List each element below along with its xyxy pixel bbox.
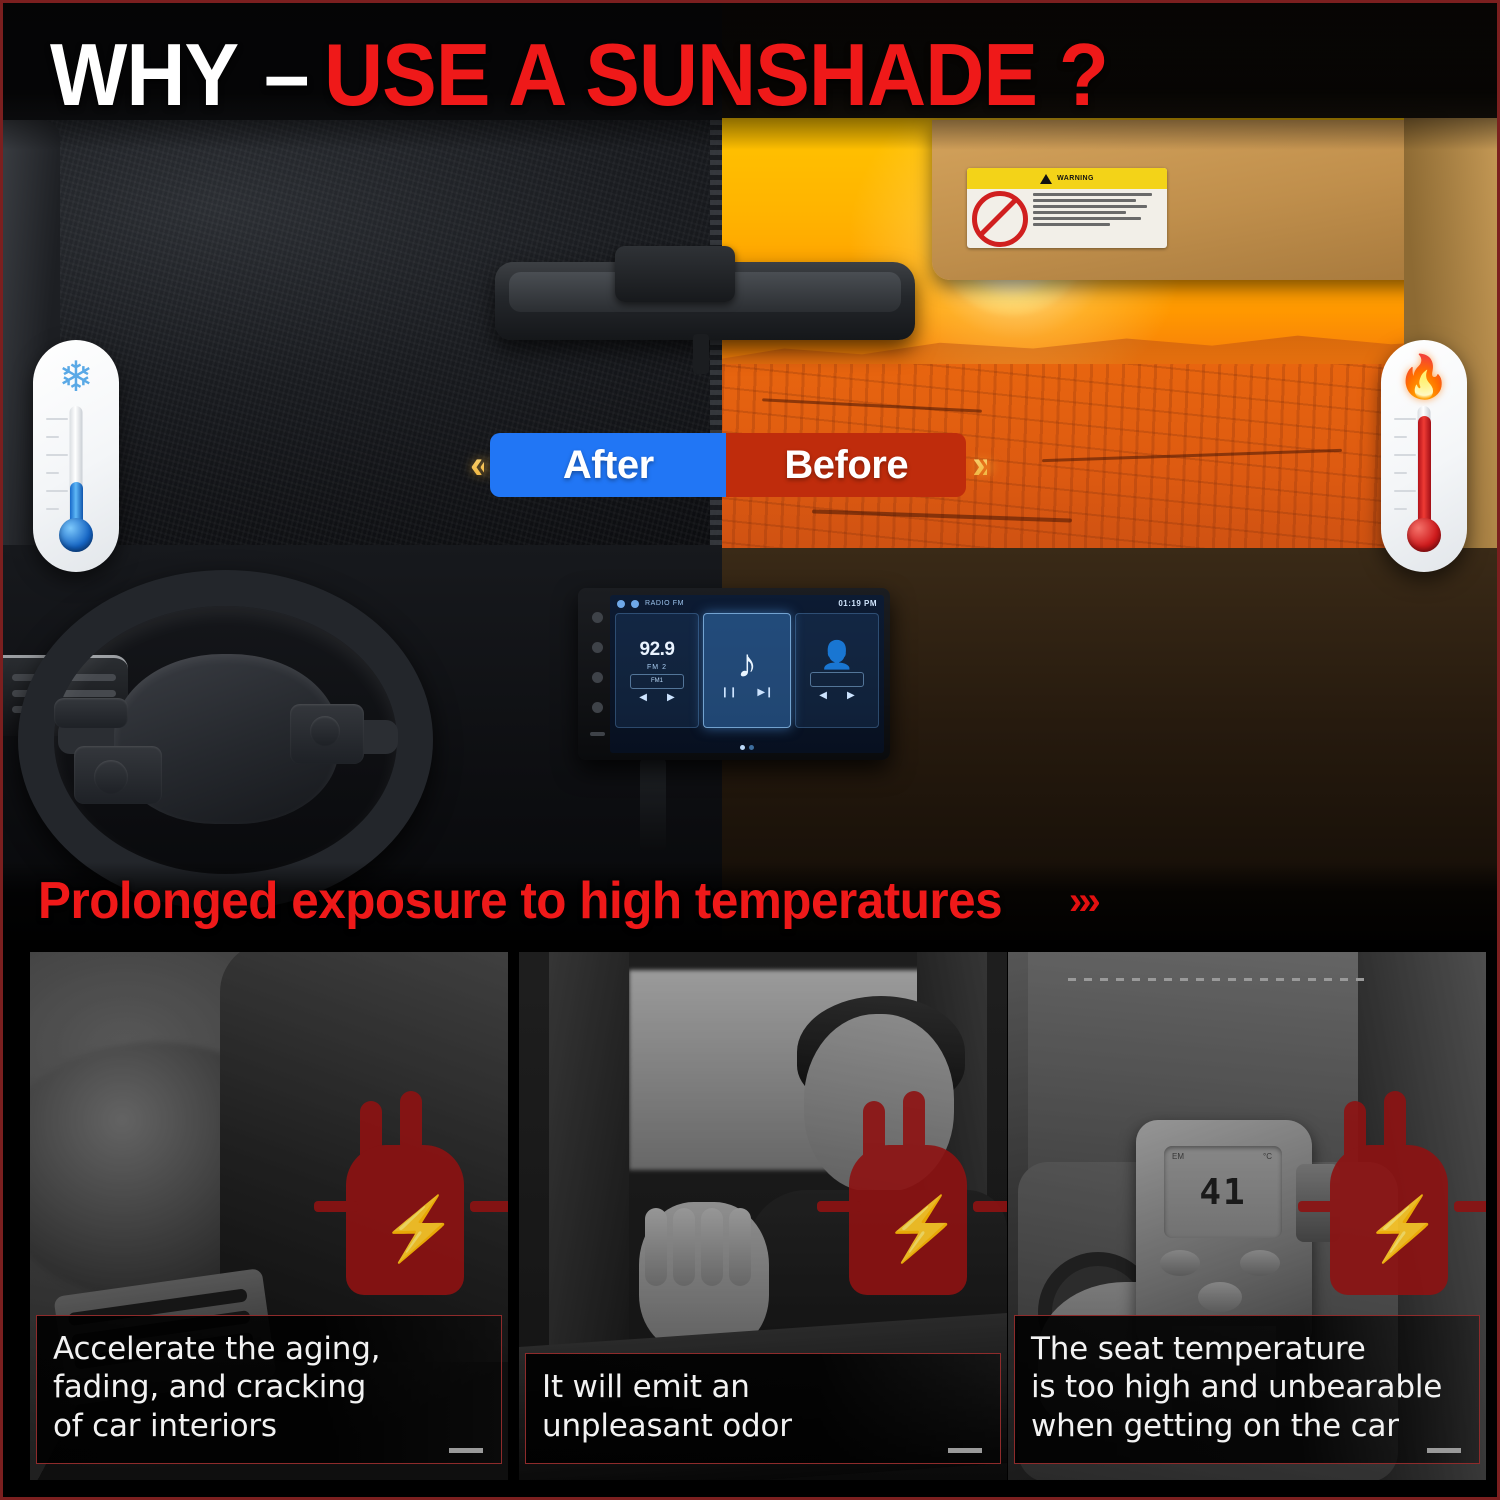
home-key-icon[interactable] xyxy=(592,642,603,653)
thermometer-barrel xyxy=(1296,1164,1340,1242)
steering-stalk xyxy=(54,698,128,728)
radio-preset-button[interactable]: FM1 xyxy=(630,674,684,689)
before-badge[interactable]: Before xyxy=(726,433,966,497)
radio-source-label: RADIO FM xyxy=(645,600,684,607)
phone-contact-button[interactable] xyxy=(810,672,864,687)
banner-text: Prolonged exposure to high temperatures xyxy=(38,871,1002,931)
caption-underscore xyxy=(948,1448,982,1453)
cold-thermometer: ❄ xyxy=(33,340,119,572)
title-word-why: WHY xyxy=(50,31,238,119)
infrared-thermometer: EM °C 41 xyxy=(1136,1120,1312,1346)
warning-label-text-lines xyxy=(1033,189,1167,248)
person-icon: 👤 xyxy=(820,641,854,669)
rear-view-mirror-housing xyxy=(615,246,735,302)
person-hand xyxy=(639,1202,769,1352)
card-unpleasant-odor: ⚡ It will emit an unpleasant odor xyxy=(519,952,1007,1480)
consequence-cards: ⚡ Accelerate the aging, fading, and crac… xyxy=(0,940,1500,1500)
thermometer-bulb-cold xyxy=(59,518,93,552)
radio-tile[interactable]: 92.9 FM 2 FM1 ◀ ▶ xyxy=(615,613,699,728)
thermometer-ticks-cold xyxy=(46,418,68,530)
head-unit-hard-keys[interactable] xyxy=(584,595,610,753)
caption-line: The seat temperature xyxy=(1031,1330,1463,1368)
seek-next-icon[interactable]: ▶ xyxy=(667,692,675,703)
caption-line: of car interiors xyxy=(53,1407,485,1445)
rear-view-mirror xyxy=(495,262,915,340)
card-caption: Accelerate the aging, fading, and cracki… xyxy=(36,1315,502,1464)
head-unit-screen[interactable]: RADIO FM 01:19 PM 92.9 FM 2 FM1 ◀ ▶ ♪ xyxy=(610,595,884,753)
radio-band: FM 2 xyxy=(647,664,667,671)
contact-next-icon[interactable]: ▶ xyxy=(847,690,855,701)
caption-line: Accelerate the aging, xyxy=(53,1330,485,1368)
sunshade-promo-poster: WARNING xyxy=(0,0,1500,1500)
radio-seek-controls[interactable]: ◀ ▶ xyxy=(639,692,674,703)
page-title: WHY – USE A SUNSHADE ? xyxy=(0,0,1500,150)
temperature-reading: 41 xyxy=(1199,1172,1246,1213)
flame-icon: 🔥 xyxy=(1381,356,1467,398)
media-key-icon[interactable] xyxy=(592,672,603,683)
caption-line: is too high and unbearable xyxy=(1031,1368,1463,1406)
select-button[interactable] xyxy=(1198,1282,1242,1312)
heat-exposure-banner: Prolonged exposure to high temperatures … xyxy=(0,862,1500,940)
before-after-badge-group: « After Before » xyxy=(470,433,987,497)
volume-key-icon[interactable] xyxy=(590,732,605,736)
card-caption: It will emit an unpleasant odor xyxy=(525,1353,1001,1464)
media-tile[interactable]: ♪ ❙❙ ▶❙ xyxy=(703,613,791,728)
media-transport-controls[interactable]: ❙❙ ▶❙ xyxy=(721,687,774,698)
phone-tile[interactable]: 👤 ◀ ▶ xyxy=(795,613,879,728)
warning-triangle-icon xyxy=(1040,174,1052,184)
mode-button-left[interactable] xyxy=(1160,1250,1200,1276)
caption-underscore xyxy=(1427,1448,1461,1453)
steering-wheel xyxy=(18,570,433,910)
page-indicator-dots xyxy=(610,745,884,750)
title-word-use-a-sunshade: USE A SUNSHADE ? xyxy=(324,31,1108,119)
thermometer-display: EM °C 41 xyxy=(1164,1146,1282,1238)
airbag-warning-label: WARNING xyxy=(967,168,1167,248)
card-seat-temperature: EM °C 41 ⚡ The seat tem xyxy=(1008,952,1486,1480)
banner-chevrons-icon: ››› xyxy=(1069,879,1097,924)
caption-line: unpleasant odor xyxy=(542,1407,984,1445)
clock-label: 01:19 PM xyxy=(838,599,877,608)
card-caption: The seat temperature is too high and unb… xyxy=(1014,1315,1480,1464)
title-dash: – xyxy=(264,31,309,119)
steering-dpad-right xyxy=(310,716,340,746)
bluetooth-icon xyxy=(617,600,625,608)
seek-prev-icon[interactable]: ◀ xyxy=(639,692,647,703)
hot-thermometer: 🔥 xyxy=(1381,340,1467,572)
pause-icon[interactable]: ❙❙ xyxy=(721,687,738,698)
caption-underscore xyxy=(449,1448,483,1453)
rear-view-mirror-stem xyxy=(693,334,709,374)
thermometer-fill-hot xyxy=(1418,416,1431,534)
caption-line: fading, and cracking xyxy=(53,1368,485,1406)
no-child-seat-icon xyxy=(967,189,1033,248)
chevron-left-icon: « xyxy=(470,443,484,488)
warning-label-header: WARNING xyxy=(967,168,1167,189)
settings-icon xyxy=(631,600,639,608)
thermometer-tube-hot xyxy=(1418,406,1431,534)
thermometer-bulb-hot xyxy=(1407,518,1441,552)
thermometer-tube-cold xyxy=(70,406,83,534)
mode-button-right[interactable] xyxy=(1240,1250,1280,1276)
radio-frequency: 92.9 xyxy=(640,639,675,661)
menu-key-icon[interactable] xyxy=(592,702,603,713)
warning-heading: WARNING xyxy=(1057,175,1094,182)
card-aging-interiors: ⚡ Accelerate the aging, fading, and crac… xyxy=(30,952,508,1480)
seat-stitching xyxy=(1068,978,1368,981)
skip-icon[interactable]: ▶❙ xyxy=(757,687,773,698)
infotainment-head-unit[interactable]: RADIO FM 01:19 PM 92.9 FM 2 FM1 ◀ ▶ ♪ xyxy=(578,588,890,760)
steering-dpad-left xyxy=(94,760,128,794)
unit-label: °C xyxy=(1263,1152,1272,1161)
music-note-icon: ♪ xyxy=(737,644,757,684)
thermometer-ticks-hot xyxy=(1394,418,1416,530)
power-key-icon[interactable] xyxy=(592,612,603,623)
head-unit-mount xyxy=(640,758,666,850)
after-badge[interactable]: After xyxy=(490,433,726,497)
caption-line: when getting on the car xyxy=(1031,1407,1463,1445)
person-head xyxy=(804,1014,954,1192)
head-unit-status-bar: RADIO FM 01:19 PM xyxy=(610,595,884,610)
contact-prev-icon[interactable]: ◀ xyxy=(819,690,827,701)
phone-nav-controls[interactable]: ◀ ▶ xyxy=(819,690,854,701)
chevron-right-icon: » xyxy=(972,443,986,488)
caption-line: It will emit an xyxy=(542,1368,984,1406)
snowflake-icon: ❄ xyxy=(33,356,119,398)
emissivity-label: EM xyxy=(1172,1152,1184,1161)
